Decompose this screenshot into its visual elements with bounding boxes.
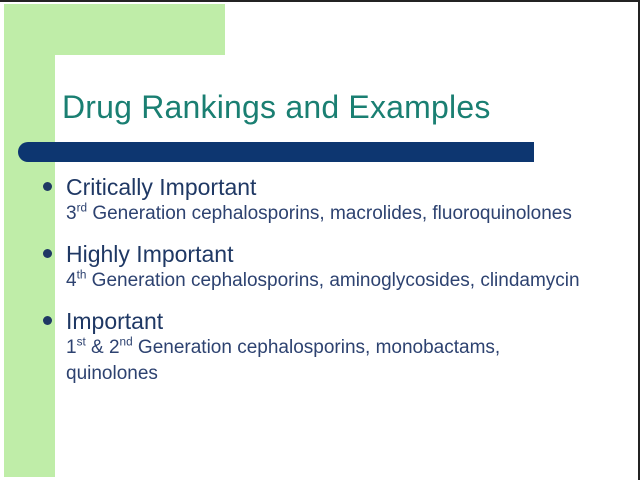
bullet-detail-ordinal: rd [77,202,87,215]
bullet-detail-ordinal: st [77,336,86,349]
bullet-detail-number: 1 [66,337,77,358]
bullet-detail-text: Generation cephalosporins, macrolides, f… [87,203,572,224]
bullet-heading: Critically Important [66,174,620,201]
bullet-list: Critically Important 3rd Generation ceph… [40,174,620,401]
bullet-detail-ordinal: th [77,269,87,282]
bullet-detail: 4th Generation cephalosporins, aminoglyc… [66,268,596,294]
title-underline-bar [18,142,534,162]
slide-canvas: Drug Rankings and Examples Critically Im… [0,0,640,480]
bullet-dot-icon [43,316,52,325]
bullet-detail-ordinal-2: nd [120,336,133,349]
bullet-detail-number: 4 [66,270,77,291]
bullet-item: Critically Important 3rd Generation ceph… [40,174,620,227]
bullet-dot-icon [43,182,52,191]
slide-title: Drug Rankings and Examples [62,88,491,126]
bullet-detail-text: Generation cephalosporins, aminoglycosid… [86,270,579,291]
bullet-item: Highly Important 4th Generation cephalos… [40,241,620,294]
bullet-detail-number: 3 [66,203,77,224]
bullet-heading: Highly Important [66,241,620,268]
bullet-detail: 3rd Generation cephalosporins, macrolide… [66,201,596,227]
bullet-dot-icon [43,249,52,258]
bullet-heading: Important [66,308,620,335]
bullet-item: Important 1st & 2nd Generation cephalosp… [40,308,620,387]
bullet-detail-number-2: & 2 [86,337,120,358]
bullet-detail: 1st & 2nd Generation cephalosporins, mon… [66,335,596,387]
